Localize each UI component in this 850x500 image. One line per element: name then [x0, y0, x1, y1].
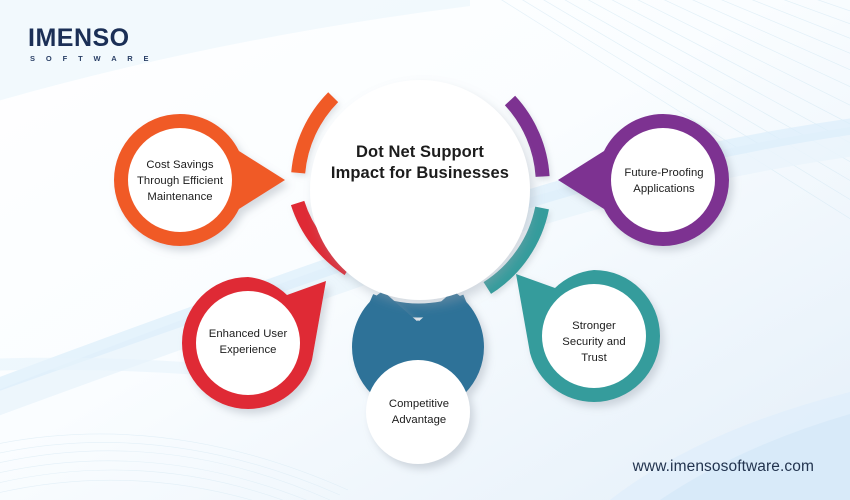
label-line-3: Maintenance	[147, 191, 212, 203]
hub-title-line1: Dot Net Support	[356, 143, 484, 161]
label-line-2: Through Efficient	[137, 175, 223, 187]
hub-title: Dot Net Support Impact for Businesses	[311, 142, 529, 185]
hub-disc	[310, 80, 530, 300]
node-cost-savings-label: Cost Savings Through Efficient Maintenan…	[118, 157, 242, 205]
hub[interactable]	[310, 80, 530, 300]
website-url[interactable]: www.imensosoftware.com	[633, 458, 814, 476]
label-line-2: Security and	[562, 336, 625, 348]
label-line-2: Experience	[219, 344, 276, 356]
label-line-1: Cost Savings	[146, 159, 213, 171]
node-enhanced-user-experience-label: Enhanced User Experience	[186, 326, 310, 358]
label-line-1: Stronger	[572, 320, 616, 332]
hub-title-line2: Impact for Businesses	[331, 164, 509, 182]
label-line-2: Advantage	[392, 414, 446, 426]
label-line-1: Enhanced User	[209, 328, 288, 340]
label-line-1: Future-Proofing	[624, 167, 703, 179]
node-future-proofing-label: Future-Proofing Applications	[603, 165, 725, 197]
infographic-canvas: IMENSO S O F T W A R E	[0, 0, 850, 500]
hub-and-spoke-diagram: Dot Net Support Impact for Businesses Co…	[0, 0, 850, 500]
label-line-3: Trust	[581, 352, 607, 364]
node-stronger-security-label: Stronger Security and Trust	[533, 318, 655, 366]
label-line-2: Applications	[633, 183, 695, 195]
node-competitive-advantage-label: Competitive Advantage	[357, 396, 481, 428]
label-line-1: Competitive	[389, 398, 449, 410]
